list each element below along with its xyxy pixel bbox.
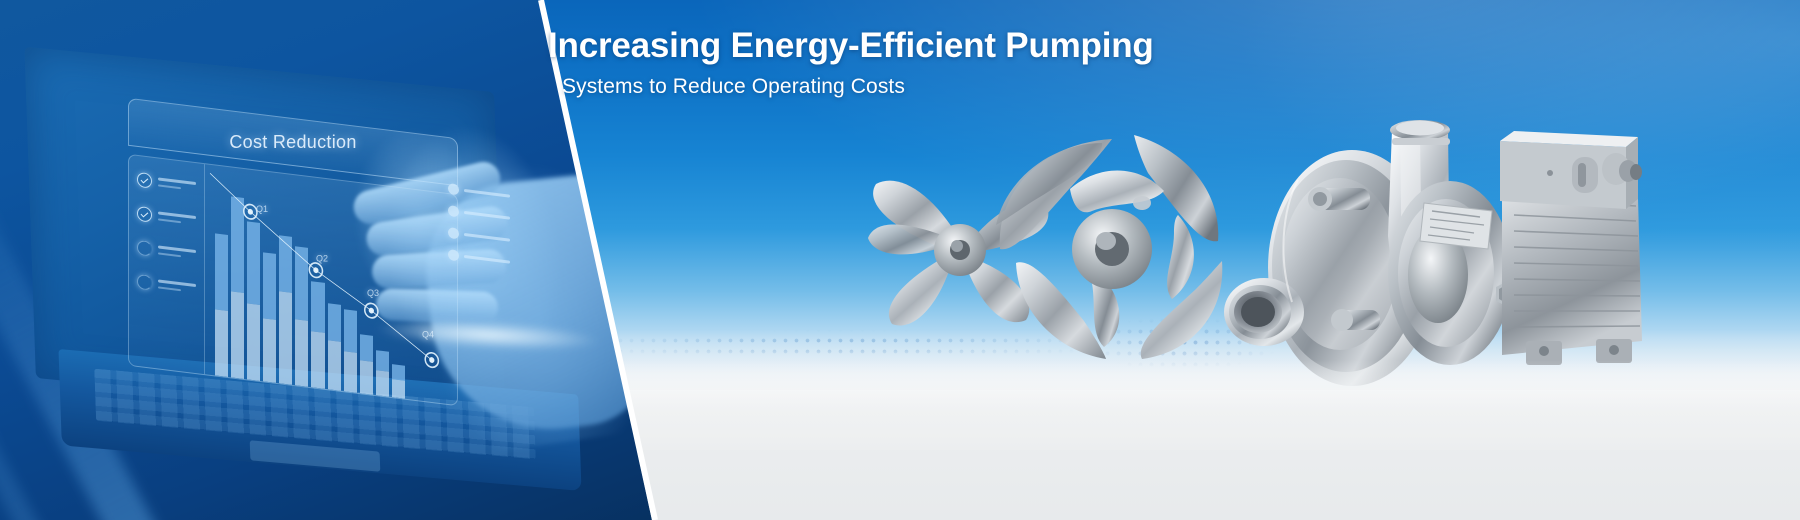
- chart-point-label: Q1: [256, 204, 268, 214]
- hero-banner: Cost Reduction: [0, 0, 1800, 520]
- list-item[interactable]: [448, 205, 510, 224]
- check-circle-icon: [137, 172, 152, 189]
- list-item[interactable]: [137, 274, 196, 296]
- list-item-lines: [464, 211, 510, 219]
- list-item[interactable]: [448, 227, 510, 246]
- list-item[interactable]: [137, 172, 196, 194]
- dashboard-bullet-list: [448, 183, 510, 279]
- check-circle-icon: [137, 240, 152, 257]
- holographic-dashboard: Cost Reduction: [128, 98, 458, 407]
- list-item-lines: [158, 279, 196, 293]
- list-item-lines: [158, 211, 196, 225]
- dashboard-body: Q1 Q2 Q3 Q4: [128, 154, 458, 407]
- bullet-dot-icon: [448, 249, 459, 261]
- dashboard-title: Cost Reduction: [128, 132, 458, 153]
- bullet-dot-icon: [448, 205, 459, 217]
- check-circle-icon: [137, 274, 152, 291]
- cost-reduction-chart: Q1 Q2 Q3 Q4: [205, 164, 457, 405]
- page-title: Increasing Energy-Efficient Pumping: [548, 26, 1154, 66]
- page-subtitle: Systems to Reduce Operating Costs: [562, 75, 905, 99]
- list-item-lines: [158, 245, 196, 259]
- list-item-lines: [464, 255, 510, 263]
- dashboard-checklist: [129, 155, 205, 374]
- bullet-dot-icon: [448, 183, 459, 195]
- list-item[interactable]: [137, 206, 196, 228]
- chart-trend-markers: [205, 164, 457, 405]
- bullet-dot-icon: [448, 227, 459, 239]
- chart-point-label: Q3: [367, 288, 379, 298]
- chart-point-label: Q2: [316, 254, 328, 264]
- list-item-lines: [158, 177, 196, 191]
- list-item[interactable]: [137, 240, 196, 262]
- list-item-lines: [464, 233, 510, 241]
- list-item[interactable]: [448, 249, 510, 268]
- list-item-lines: [464, 189, 510, 197]
- chart-point-label: Q4: [422, 330, 434, 340]
- check-circle-icon: [137, 206, 152, 223]
